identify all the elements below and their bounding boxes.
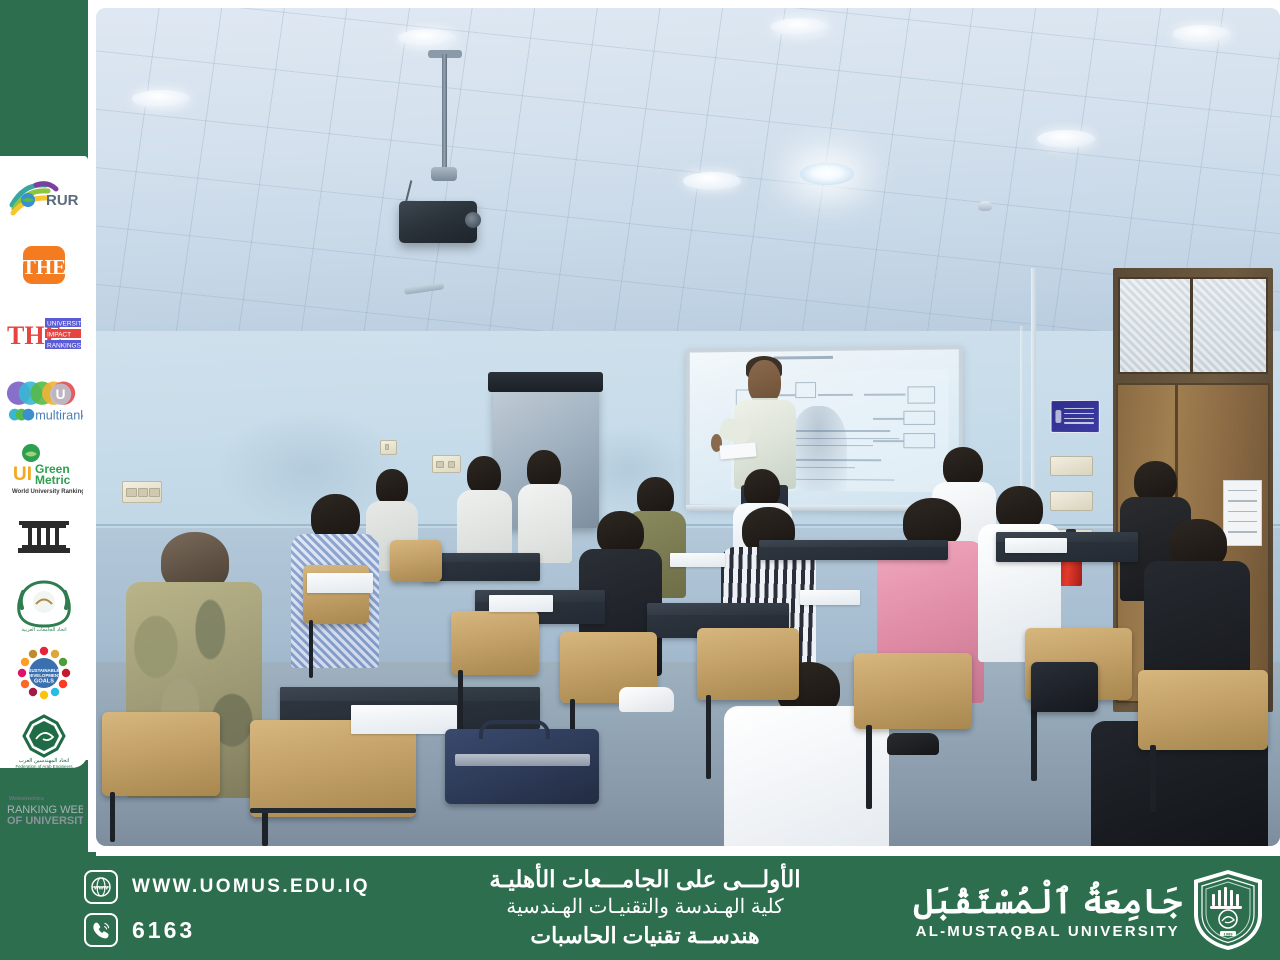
ceiling-light-1 [132,90,190,108]
student-back-3 [518,450,572,559]
paper-on-desk-5 [800,590,859,605]
slide-connector-4 [873,418,904,420]
chair-back-2 [451,611,539,675]
paper-on-desk-3 [489,595,553,612]
chair-leg-8 [110,792,115,842]
svg-text:OF UNIVERSITIES: OF UNIVERSITIES [7,815,83,827]
wall-switch-plate-1 [1050,456,1093,476]
ceiling-light-5 [1037,130,1095,148]
wall-seam [96,524,1280,526]
door-transom-divider [1190,279,1193,373]
svg-text:THE: THE [22,255,66,279]
shoulder-bag-right [1031,662,1097,712]
svg-text:IMPACT: IMPACT [47,332,71,339]
svg-text:اتحاد الجامعات العربية: اتحاد الجامعات العربية [21,627,66,632]
chair-back-front-left-2 [250,720,416,816]
student-head [467,456,501,494]
phone-ring-icon [84,913,118,947]
badge-the-impact-rankings: THE UNIVERSITY IMPACT RANKINGS [5,302,83,364]
student-head [1134,461,1177,503]
desk-surface [280,687,540,701]
podium-top-surface [488,372,603,392]
svg-text:UI: UI [13,464,32,485]
chair-leg-1 [309,620,313,679]
chair-back-7 [1138,670,1268,750]
chair-back-5 [854,653,972,728]
blue-wall-sign [1051,400,1100,433]
bag-stripe [455,754,590,766]
photo-frame [88,0,1280,852]
badge-arab-universities: اتحاد الجامعات العربية [5,574,83,636]
footer-website-row[interactable]: www WWW.UOMUS.EDU.IQ [84,870,370,904]
projector-mount-collar [431,167,457,181]
chair-back-4 [697,628,799,700]
paper-on-desk-6 [1005,538,1067,552]
footer-line-3: هندســة تقنيات الحاسبات [430,921,860,950]
slide-connector-3 [864,394,906,396]
student-head [527,450,561,488]
wall-socket-mid [380,440,397,455]
chair-leg-7 [1150,745,1156,812]
slide-diagram-box-4 [904,411,935,426]
footer-line-2: كلية الهـندسة والتقنيـات الهـندسية [430,894,860,921]
badge-webometrics: Webometrics RANKING WEB OF UNIVERSITIES [5,778,83,840]
student-head [943,447,983,487]
slide-diagram-box-3 [908,386,935,403]
svg-text:Federation of Arab Engineers: Federation of Arab Engineers [15,764,73,769]
dark-shoe [887,733,939,755]
badge-umultirank: U multirank [5,370,83,432]
footer-contact: www WWW.UOMUS.EDU.IQ 6163 [84,870,370,947]
website-url: WWW.UOMUS.EDU.IQ [132,876,370,898]
classroom-lecture-photo [96,8,1280,846]
sign-emblem-icon [1056,410,1062,423]
badge-arab-engineers: اتحاد المهندسين العرب Federation of Arab… [5,710,83,772]
desk-surface [759,540,948,547]
bag-handle [479,720,550,740]
chair-back-front-left-1 [102,712,220,796]
student-head [376,469,407,505]
footer-bar: www WWW.UOMUS.EDU.IQ 6163 الأولـــى على … [0,856,1280,960]
svg-text:U: U [56,387,66,402]
svg-text:1989: 1989 [1224,931,1234,936]
svg-text:Metric: Metric [35,473,71,487]
chair-back-mid-far [390,540,442,582]
rankings-sidebar: RUR THE THE UNIVERSITY IMPACT RANKINGS [0,156,88,768]
svg-text:World University Rankings: World University Rankings [12,489,83,495]
globe-www-icon: www [84,870,118,904]
badge-the: THE [5,234,83,296]
svg-text:DEVELOPMENT: DEVELOPMENT [27,673,61,678]
left-green-strip-top [0,0,88,160]
poster-root: RUR THE THE UNIVERSITY IMPACT RANKINGS [0,0,1280,960]
svg-text:Webometrics: Webometrics [9,796,44,802]
badge-temple-mark [5,506,83,568]
slide-connector-5 [873,440,904,442]
laptop-bag [445,729,599,804]
desk-lectern-ledge [759,540,948,560]
chair-rail-front [250,808,416,813]
svg-text:multirank: multirank [35,409,83,423]
ceiling-light-2 [398,29,456,47]
chair-leg-4 [706,695,711,779]
badge-rur: RUR [5,166,83,228]
paper-on-desk-1 [307,573,373,593]
svg-text:www: www [93,886,108,892]
brand-arabic-name: جَامِعَةُ ٱلْمُسْتَقْبَل [914,885,1182,921]
student-body [518,484,572,562]
badge-sdg: SUSTAINABLE DEVELOPMENT GOALS [5,642,83,704]
svg-text:RUR: RUR [46,192,79,209]
wall-socket-left-1 [122,481,162,503]
badge-ui-greenmetric: UI Green Metric World University Ranking… [5,438,83,500]
svg-text:GOALS: GOALS [34,679,54,685]
ceiling-light-6 [1173,25,1231,43]
door-transom-glass [1118,277,1268,375]
footer-line-1: الأولـــى على الجامـــعات الأهليـة [430,864,860,894]
student-head [744,469,781,508]
footer-headline: الأولـــى على الجامـــعات الأهليـة كلية … [430,864,860,951]
brand-english-name: AL-MUSTAQBAL UNIVERSITY [914,923,1182,940]
chair-leg-5 [866,725,872,809]
white-sneaker [619,687,673,712]
chair-leg-9 [262,812,268,846]
brand-wordmark: جَامِعَةُ ٱلْمُسْتَقْبَل AL-MUSTAQBAL UN… [914,885,1182,940]
phone-number: 6163 [132,917,195,944]
chair-leg-2 [458,670,463,737]
paper-on-desk-4 [670,553,724,567]
slide-connector-2 [819,394,854,396]
ceiling-projector [399,201,477,243]
ceiling-light-3 [771,18,829,36]
security-camera-icon [978,201,992,211]
footer-brand: جَامِعَةُ ٱلْمُسْتَقْبَل AL-MUSTAQBAL UN… [914,868,1266,957]
student-back-2 [457,456,511,565]
desk-surface [647,603,789,615]
shield-crest-icon: 1989 [1190,868,1266,957]
projector-lens [465,212,481,228]
footer-phone-row[interactable]: 6163 [84,913,370,947]
projector-mount-pole [442,54,447,180]
svg-text:UNIVERSITY: UNIVERSITY [47,321,83,328]
svg-text:RANKINGS: RANKINGS [47,343,82,350]
slide-diagram-box-5 [904,433,935,449]
paper-on-desk-2 [351,705,458,733]
